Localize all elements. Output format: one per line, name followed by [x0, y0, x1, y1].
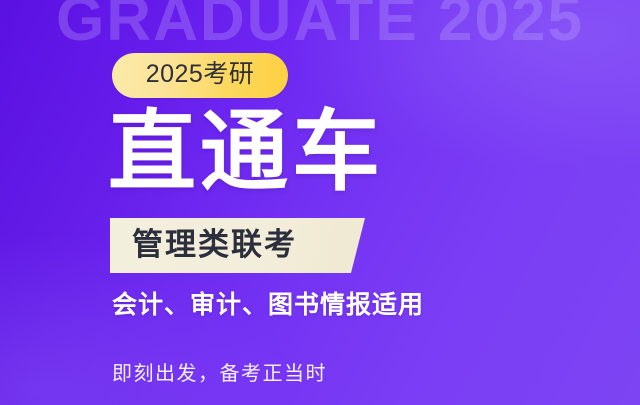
category-banner: 管理类联考: [110, 218, 365, 273]
year-badge-label: 2025考研: [146, 62, 255, 89]
subtitle-text: 会计、审计、图书情报适用: [112, 288, 424, 322]
category-banner-label: 管理类联考: [132, 229, 297, 262]
watermark-text: GRADUATE 2025: [0, 0, 640, 56]
background-sheen-overlay: [0, 0, 640, 405]
year-badge: 2025考研: [112, 53, 288, 98]
promo-poster: GRADUATE 2025 2025考研 直通车 管理类联考 会计、审计、图书情…: [0, 0, 640, 405]
headline-title: 直通车: [108, 104, 384, 200]
tagline-text: 即刻出发，备考正当时: [112, 360, 327, 388]
